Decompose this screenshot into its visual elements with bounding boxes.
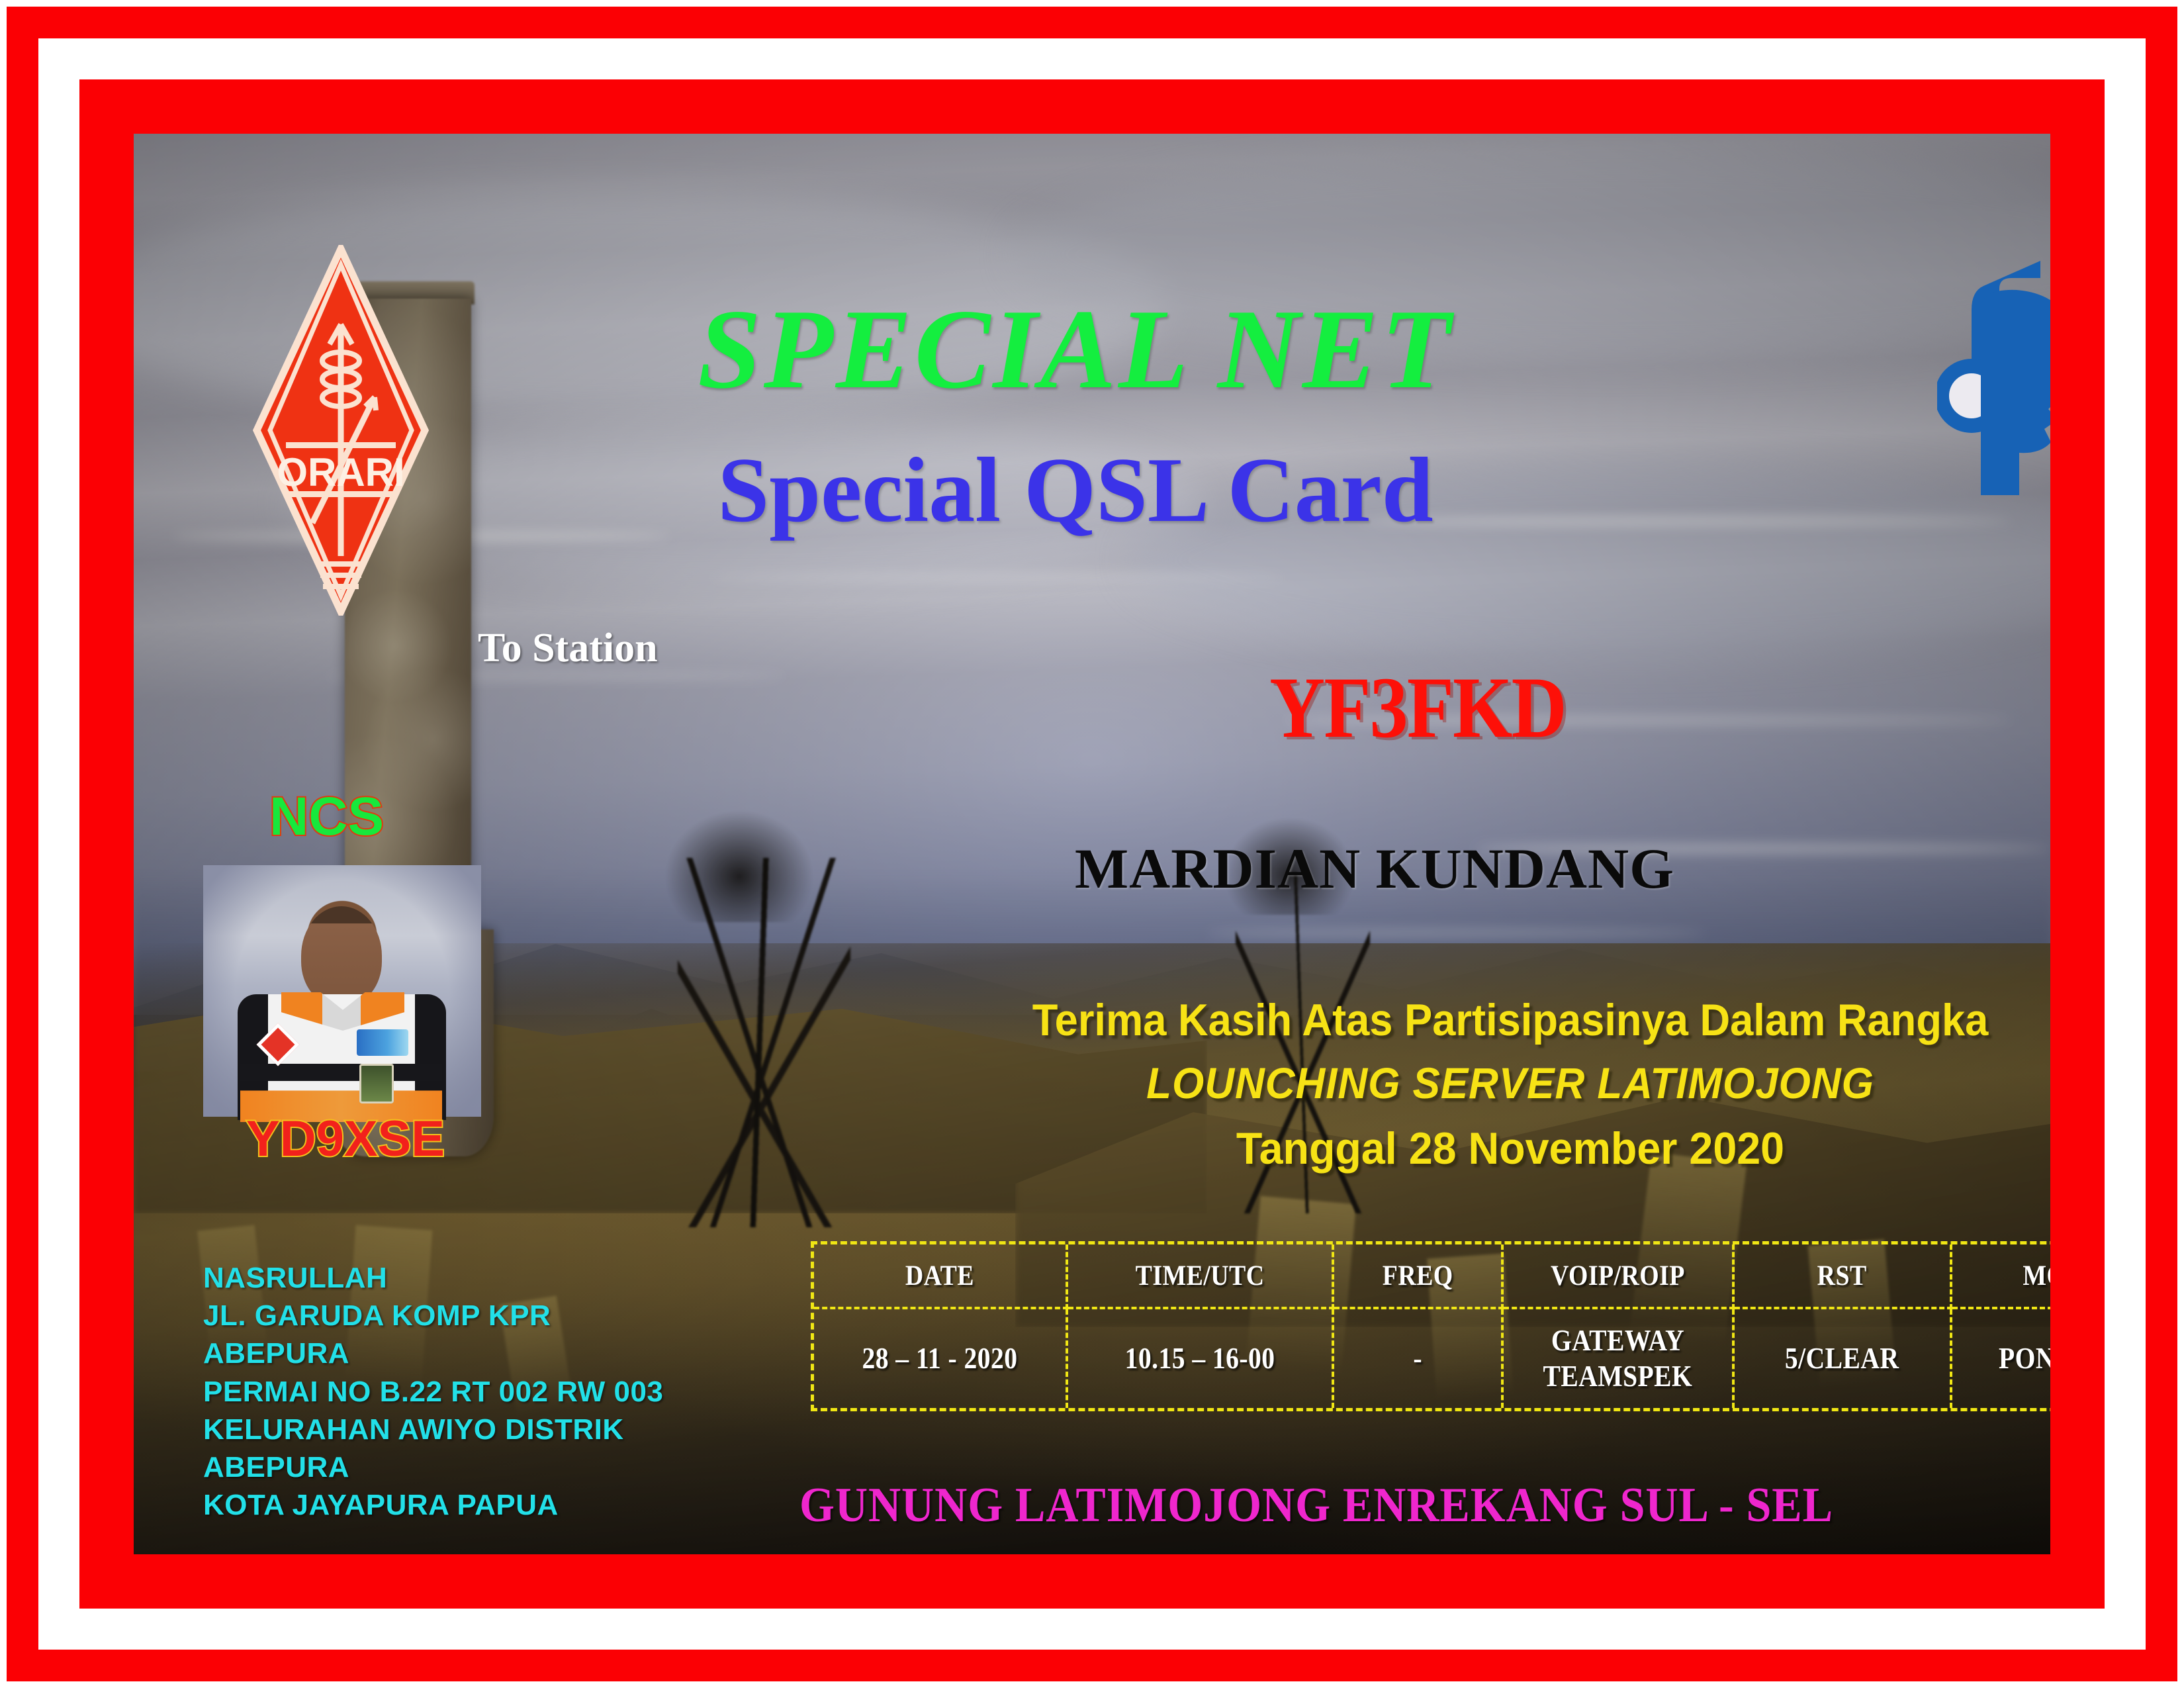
address-line: ABEPURA bbox=[203, 1448, 746, 1486]
thanks-line-1: Terima Kasih Atas Partisipasinya Dalam R… bbox=[926, 994, 2051, 1046]
cell-rst: 5/CLEAR bbox=[1747, 1308, 1938, 1408]
operator-portrait bbox=[203, 865, 481, 1117]
ncs-callsign: YD9XSE bbox=[246, 1110, 445, 1168]
operator-name: MARDIAN KUNDANG bbox=[928, 835, 1821, 902]
table-header-row: DATE TIME/UTC FREQ VOIP/ROIP RST MODE bbox=[814, 1244, 2050, 1308]
address-line: NASRULLAH bbox=[203, 1259, 746, 1297]
portrait-belt bbox=[240, 1064, 442, 1081]
mailing-address: NASRULLAH JL. GARUDA KOMP KPR ABEPURA PE… bbox=[203, 1259, 746, 1524]
portrait-head bbox=[301, 906, 382, 1006]
cell-voip-roip-line2: TEAMSPEK bbox=[1518, 1359, 1718, 1394]
address-line: PERMAI NO B.22 RT 002 RW 003 bbox=[203, 1373, 746, 1411]
column-header-rst: RST bbox=[1747, 1244, 1938, 1308]
id-card-icon bbox=[359, 1064, 394, 1103]
cell-voip-roip-line1: GATEWAY bbox=[1518, 1323, 1718, 1358]
thanks-message: Terima Kasih Atas Partisipasinya Dalam R… bbox=[882, 994, 2050, 1174]
cell-voip-roip: GATEWAY TEAMSPEK bbox=[1516, 1308, 1719, 1408]
inner-red-border: ORARI bbox=[79, 79, 2105, 1609]
address-line: ABEPURA bbox=[203, 1335, 746, 1372]
column-header-time: TIME/UTC bbox=[1083, 1244, 1317, 1308]
column-header-voip-roip: VOIP/ROIP bbox=[1516, 1244, 1719, 1308]
qsl-card: ORARI bbox=[0, 0, 2184, 1688]
location-text: GUNUNG LATIMOJONG ENREKANG SUL - SEL bbox=[799, 1477, 1956, 1534]
background-photo: ORARI bbox=[134, 134, 2050, 1554]
address-line: KELURAHAN AWIYO DISTRIK bbox=[203, 1411, 746, 1448]
thanks-line-3: Tanggal 28 November 2020 bbox=[913, 1123, 2051, 1174]
uniform-badge-icon bbox=[357, 1029, 408, 1056]
table-row: 28 – 11 - 2020 10.15 – 16-00 - GATEWAY T… bbox=[814, 1308, 2050, 1408]
column-header-freq: FREQ bbox=[1343, 1244, 1492, 1308]
column-header-date: DATE bbox=[829, 1244, 1052, 1308]
address-line: KOTA JAYAPURA PAPUA bbox=[203, 1486, 746, 1524]
outer-red-border: ORARI bbox=[7, 7, 2177, 1681]
station-callsign: YF3FKD bbox=[1054, 657, 1782, 758]
qso-log-table: DATE TIME/UTC FREQ VOIP/ROIP RST MODE bbox=[811, 1241, 2050, 1411]
cell-time: 10.15 – 16-00 bbox=[1083, 1308, 1317, 1408]
thanks-line-2: LOUNCHING SERVER LATIMOJONG bbox=[919, 1058, 2050, 1108]
column-header-mode: MODE bbox=[1964, 1244, 2050, 1308]
page-title: SPECIAL NET bbox=[134, 285, 2034, 415]
ncs-label: NCS bbox=[269, 786, 384, 848]
page-subtitle: Special QSL Card bbox=[134, 437, 2034, 543]
cell-freq: - bbox=[1343, 1308, 1492, 1408]
cell-date: 28 – 11 - 2020 bbox=[829, 1308, 1052, 1408]
white-border-gap: ORARI bbox=[38, 38, 2146, 1650]
address-line: JL. GARUDA KOMP KPR bbox=[203, 1297, 746, 1335]
cell-mode: PONE/CW bbox=[1964, 1308, 2050, 1408]
to-station-label: To Station bbox=[478, 625, 658, 672]
